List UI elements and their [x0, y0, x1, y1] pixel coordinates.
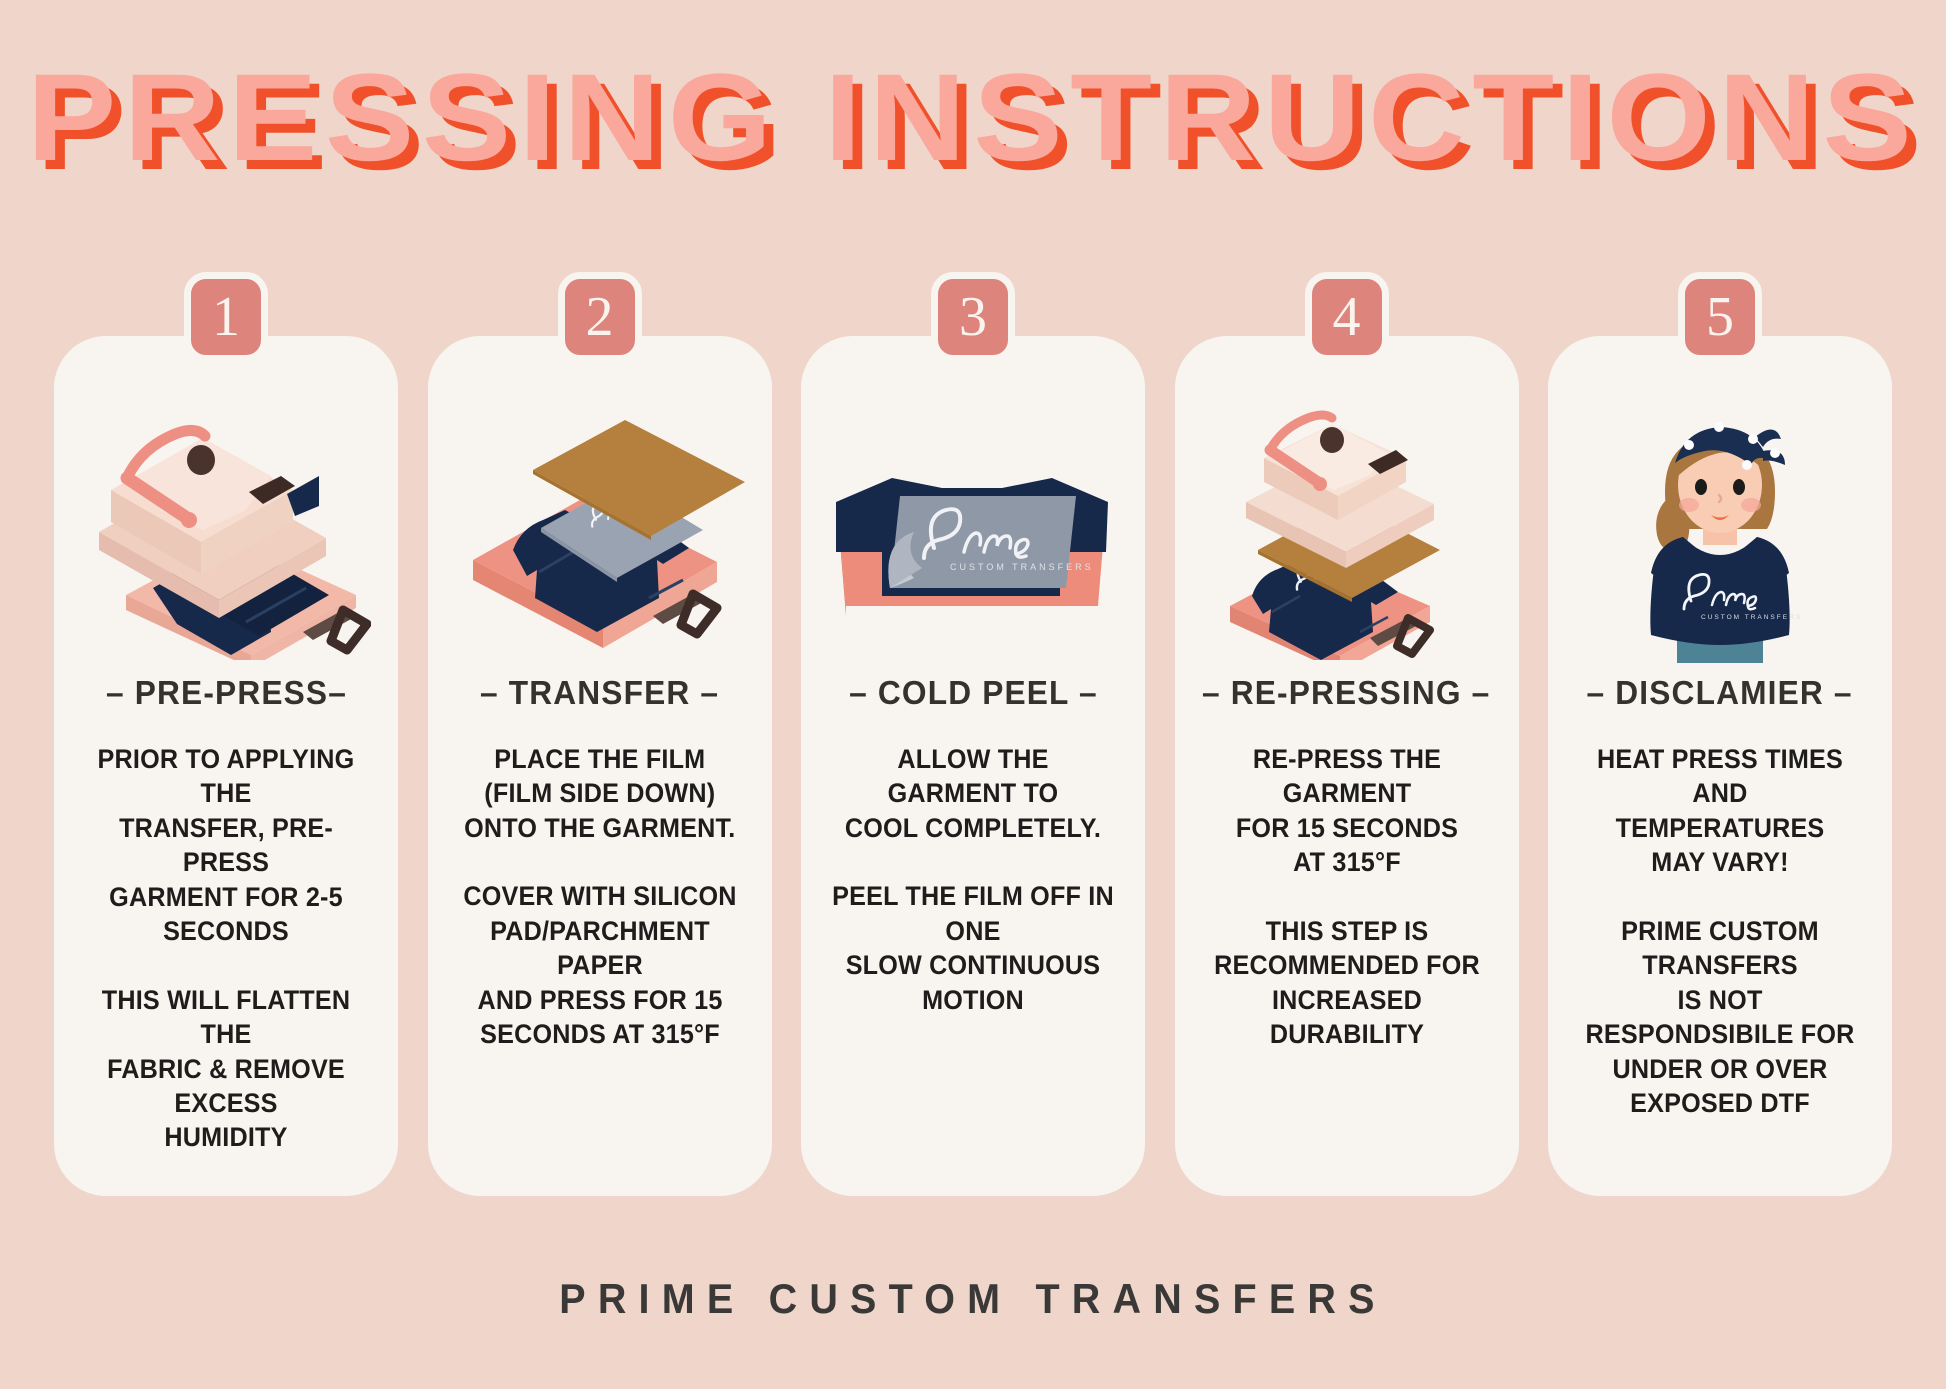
- step-heading-4: – RE-PRESSING –: [1202, 674, 1490, 712]
- step-badge-5: 5: [1678, 272, 1762, 362]
- page-title: PRESSING INSTRUCTIONS PRESSING INSTRUCTI…: [0, 48, 1946, 188]
- svg-text:CUSTOM TRANSFERS: CUSTOM TRANSFERS: [950, 562, 1094, 572]
- step-paragraph: PRIOR TO APPLYING THE TRANSFER, PRE-PRES…: [84, 742, 369, 949]
- step-card-3: 3: [801, 336, 1145, 1196]
- step-body-2: PLACE THE FILM (FILM SIDE DOWN) ONTO THE…: [450, 742, 750, 1052]
- step-body-5: HEAT PRESS TIMES AND TEMPERATURES MAY VA…: [1570, 742, 1870, 1120]
- step-paragraph: PRIME CUSTOM TRANSFERS IS NOT RESPONDSIB…: [1578, 914, 1863, 1121]
- step-card-1: 1: [54, 336, 398, 1196]
- step-heading-3: – COLD PEEL –: [849, 674, 1098, 712]
- step-heading-2: – TRANSFER –: [480, 674, 719, 712]
- step-badge-3: 3: [931, 272, 1015, 362]
- step-card-2: 2: [428, 336, 772, 1196]
- step-paragraph: RE-PRESS THE GARMENT FOR 15 SECONDS AT 3…: [1204, 742, 1489, 880]
- step-card-5: 5: [1548, 336, 1892, 1196]
- peeling-film-shirt-icon: CUSTOM TRANSFERS: [823, 410, 1123, 660]
- steps-row: 1: [54, 336, 1892, 1196]
- svg-text:CUSTOM TRANSFERS: CUSTOM TRANSFERS: [1701, 614, 1802, 621]
- step-heading-5: – DISCLAMIER –: [1587, 674, 1853, 712]
- step-body-3: ALLOW THE GARMENT TO COOL COMPLETELY. PE…: [823, 742, 1123, 1017]
- step-paragraph: PEEL THE FILM OFF IN ONE SLOW CONTINUOUS…: [831, 879, 1116, 1017]
- exploded-heat-press-icon: [1197, 410, 1497, 660]
- step-body-4: RE-PRESS THE GARMENT FOR 15 SECONDS AT 3…: [1197, 742, 1497, 1052]
- step-heading-1: – PRE-PRESS–: [106, 674, 347, 712]
- step-paragraph: THIS STEP IS RECOMMENDED FOR INCREASED D…: [1204, 914, 1489, 1052]
- heat-press-closed-icon: [76, 410, 376, 660]
- step-paragraph: THIS WILL FLATTEN THE FABRIC & REMOVE EX…: [84, 983, 369, 1155]
- step-paragraph: ALLOW THE GARMENT TO COOL COMPLETELY.: [831, 742, 1116, 845]
- film-on-garment-icon: [450, 410, 750, 660]
- page-title-text: PRESSING INSTRUCTIONS: [27, 49, 1919, 187]
- footer-brand: PRIME CUSTOM TRANSFERS: [58, 1275, 1887, 1323]
- step-body-1: PRIOR TO APPLYING THE TRANSFER, PRE-PRES…: [76, 742, 376, 1155]
- pressing-instructions-poster: PRESSING INSTRUCTIONS PRESSING INSTRUCTI…: [0, 0, 1946, 1389]
- step-badge-2: 2: [558, 272, 642, 362]
- step-badge-1: 1: [184, 272, 268, 362]
- step-paragraph: HEAT PRESS TIMES AND TEMPERATURES MAY VA…: [1578, 742, 1863, 880]
- woman-wearing-shirt-icon: CUSTOM TRANSFERS: [1570, 410, 1870, 660]
- step-badge-4: 4: [1305, 272, 1389, 362]
- step-card-4: 4: [1175, 336, 1519, 1196]
- step-paragraph: PLACE THE FILM (FILM SIDE DOWN) ONTO THE…: [464, 742, 735, 845]
- step-paragraph: COVER WITH SILICON PAD/PARCHMENT PAPER A…: [457, 879, 742, 1051]
